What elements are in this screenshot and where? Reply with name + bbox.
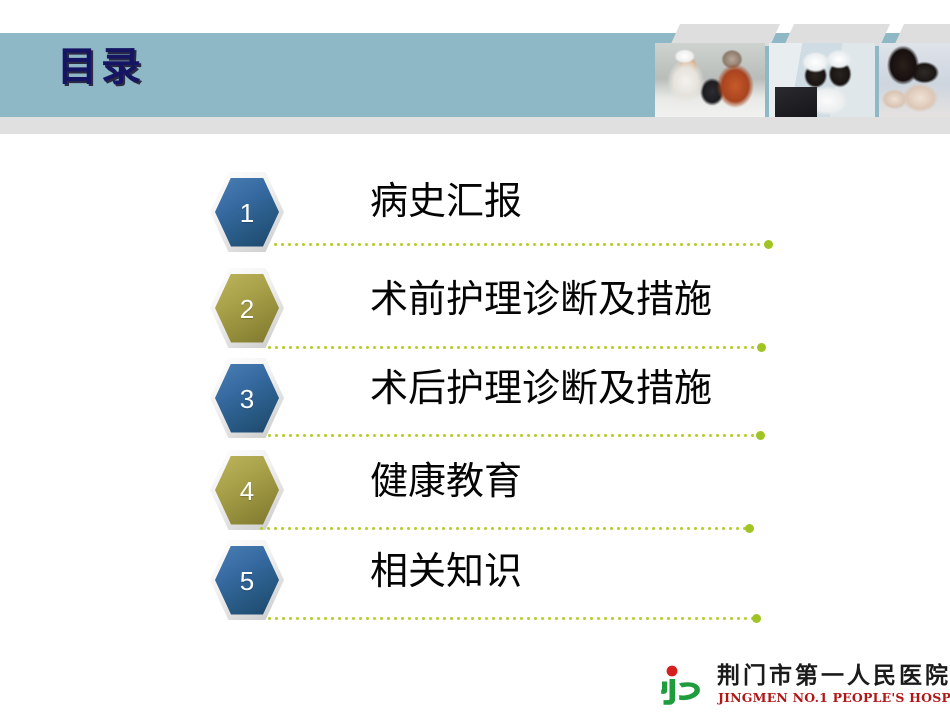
toc-item-5[interactable]: 5 相关知识: [0, 540, 950, 626]
toc-dotted-line-1: [272, 243, 766, 246]
hospital-logo-mark-icon: [655, 664, 713, 708]
toc-label-4: 健康教育: [370, 462, 522, 500]
hospital-logo: 荆门市第一人民医院 JINGMEN NO.1 PEOPLE'S HOSPITAL: [655, 662, 945, 710]
toc-label-1: 病史汇报: [370, 182, 522, 220]
toc-list: 1 病史汇报 2 术前护理诊断及措施 3: [0, 0, 950, 713]
toc-item-4[interactable]: 4 健康教育: [0, 450, 950, 536]
toc-dotted-line-5: [266, 617, 753, 620]
slide-root: 目录 1 病史汇报 2: [0, 0, 950, 713]
toc-dotted-line-3: [266, 434, 758, 437]
toc-item-1[interactable]: 1 病史汇报: [0, 172, 950, 258]
toc-end-dot-4: [745, 524, 754, 533]
hexagon-number-4: 4: [240, 478, 254, 504]
hexagon-number-3: 3: [240, 386, 254, 412]
toc-end-dot-1: [764, 240, 773, 249]
toc-dotted-line-2: [266, 346, 758, 349]
hospital-name-en: JINGMEN NO.1 PEOPLE'S HOSPITAL: [718, 692, 950, 705]
hospital-name-cn: 荆门市第一人民医院: [717, 664, 950, 689]
toc-label-5: 相关知识: [370, 552, 522, 590]
toc-end-dot-3: [756, 431, 765, 440]
toc-end-dot-2: [757, 343, 766, 352]
hexagon-number-1: 1: [240, 200, 254, 226]
toc-item-3[interactable]: 3 术后护理诊断及措施: [0, 358, 950, 444]
toc-label-3: 术后护理诊断及措施: [370, 369, 712, 407]
hexagon-number-5: 5: [240, 568, 254, 594]
hexagon-number-2: 2: [240, 296, 254, 322]
toc-item-2[interactable]: 2 术前护理诊断及措施: [0, 268, 950, 354]
toc-label-2: 术前护理诊断及措施: [370, 280, 712, 318]
toc-dotted-line-4: [258, 527, 746, 530]
toc-end-dot-5: [752, 614, 761, 623]
